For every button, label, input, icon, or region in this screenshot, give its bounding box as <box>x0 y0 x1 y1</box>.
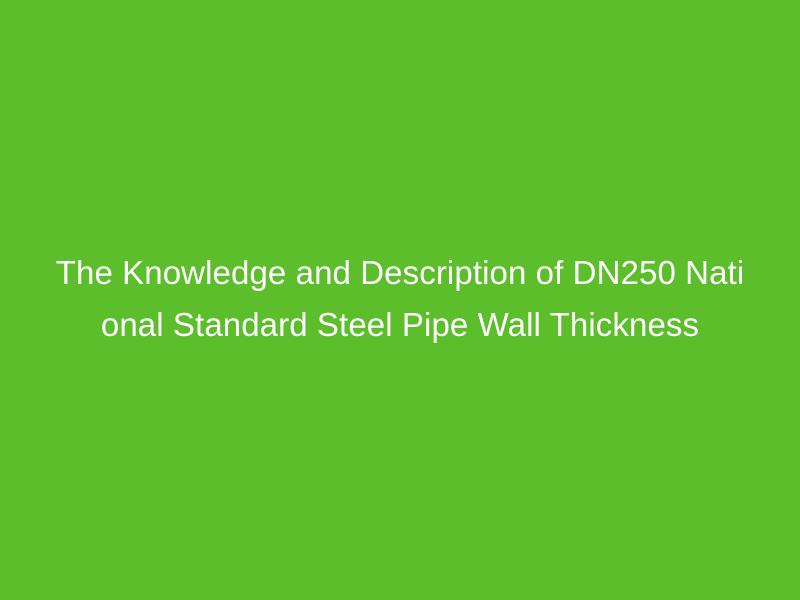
title-block: The Knowledge and Description of DN250 N… <box>50 247 750 351</box>
title-card: The Knowledge and Description of DN250 N… <box>0 0 800 600</box>
page-title: The Knowledge and Description of DN250 N… <box>50 247 750 351</box>
